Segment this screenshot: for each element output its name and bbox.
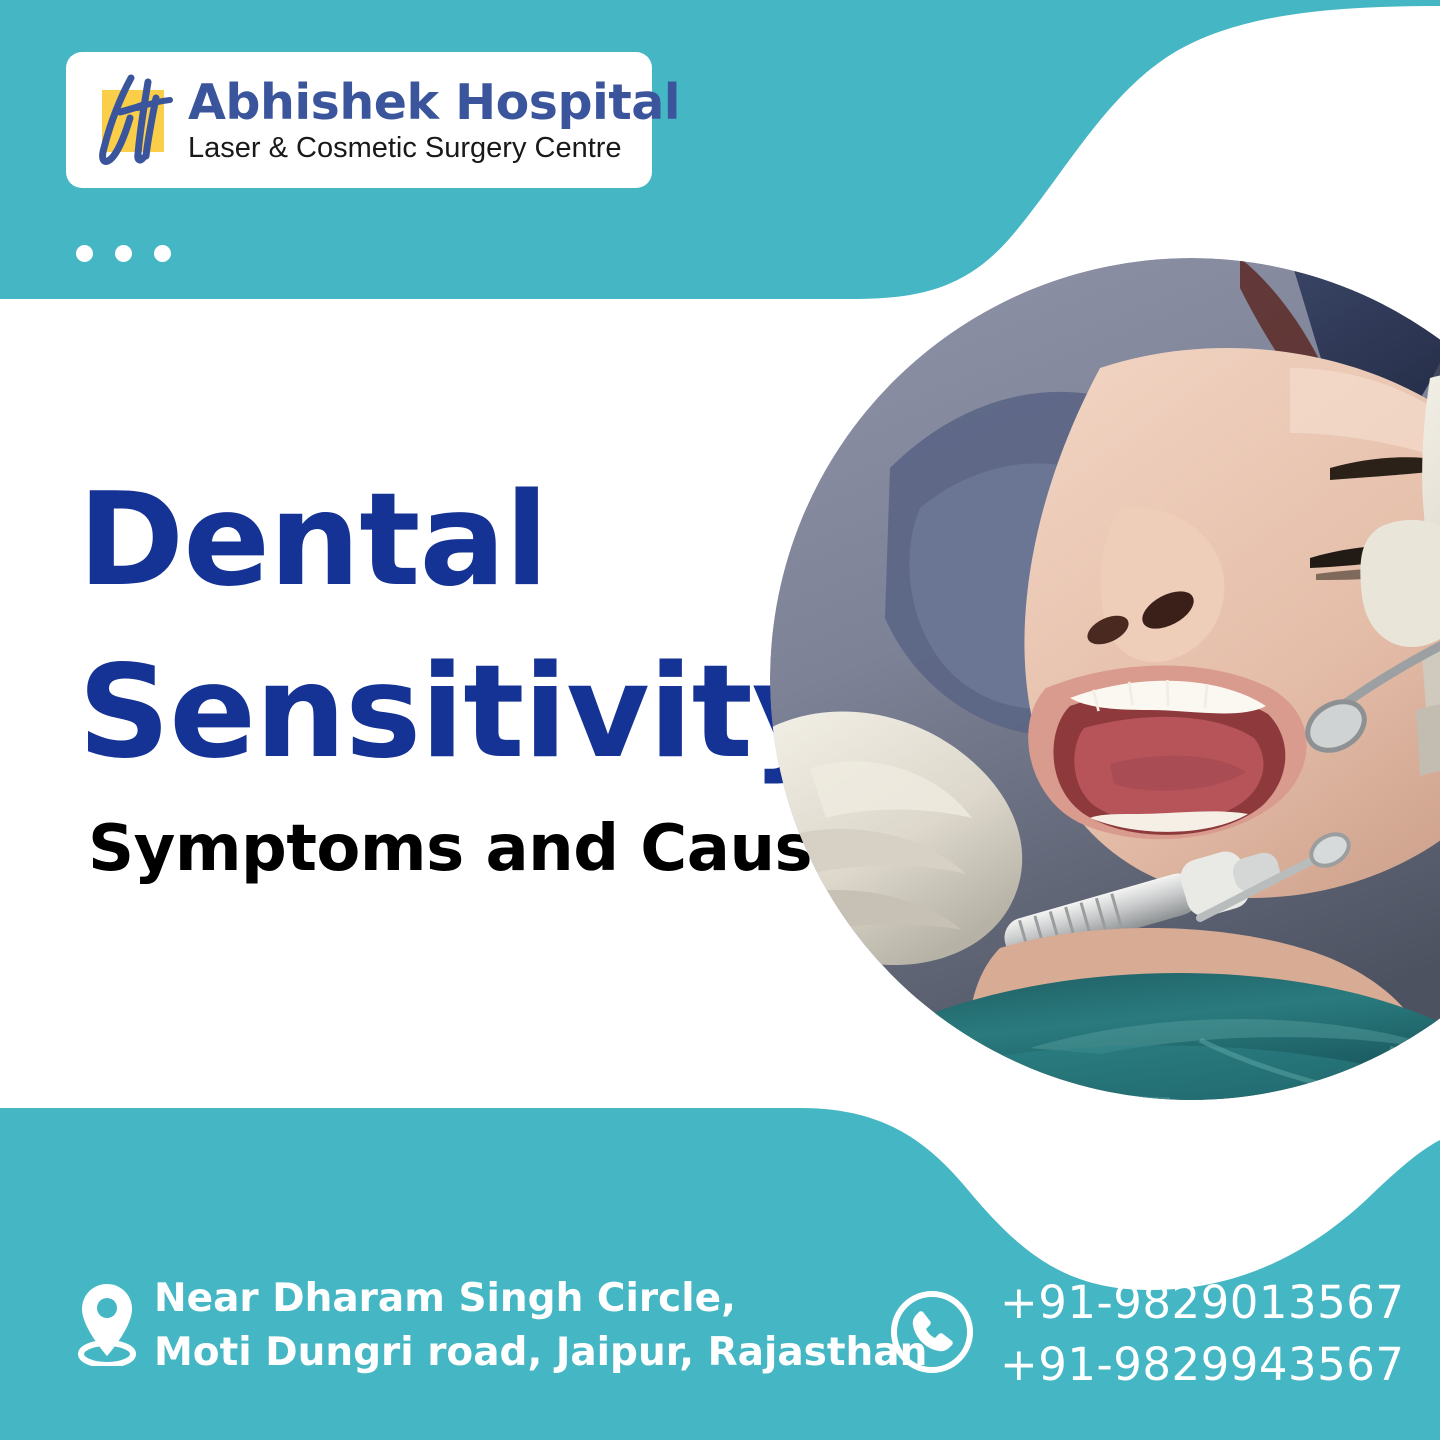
phone-number-1: +91-9829013567	[1000, 1272, 1405, 1334]
dot	[1322, 78, 1340, 96]
dot	[115, 245, 132, 262]
dot	[1322, 115, 1340, 133]
dot	[1364, 115, 1382, 133]
address-line-2: Moti Dungri road, Jaipur, Rajasthan	[154, 1326, 927, 1380]
ah-monogram-icon	[90, 72, 182, 168]
dot-grid-decoration	[1322, 78, 1382, 170]
dot	[76, 245, 93, 262]
dot-row-decoration	[76, 245, 171, 262]
poster-canvas: Abhishek Hospital Laser & Cosmetic Surge…	[0, 0, 1440, 1440]
headline-line-2: Sensitivity	[78, 627, 778, 799]
address-line-1: Near Dharam Singh Circle,	[154, 1272, 927, 1326]
footer-contact-bar: Near Dharam Singh Circle, Moti Dungri ro…	[0, 1272, 1440, 1412]
dot	[1364, 78, 1382, 96]
logo-title: Abhishek Hospital	[188, 78, 680, 127]
address-block[interactable]: Near Dharam Singh Circle, Moti Dungri ro…	[78, 1272, 927, 1380]
phone-number-2: +91-9829943567	[1000, 1334, 1405, 1396]
headline-line-1: Dental	[78, 455, 778, 627]
dot	[154, 245, 171, 262]
map-pin-icon	[78, 1280, 136, 1371]
phone-block[interactable]: +91-9829013567 +91-9829943567	[890, 1272, 1405, 1396]
page-title: Dental Sensitivity	[78, 455, 778, 798]
phone-icon	[890, 1290, 974, 1379]
logo-wordmark: Abhishek Hospital Laser & Cosmetic Surge…	[188, 78, 680, 163]
logo-subtitle: Laser & Cosmetic Surgery Centre	[188, 134, 680, 163]
dot	[1322, 152, 1340, 170]
address-lines: Near Dharam Singh Circle, Moti Dungri ro…	[154, 1272, 927, 1380]
dot	[1364, 152, 1382, 170]
dental-treatment-illustration	[770, 258, 1440, 1100]
ah-script-glyph	[90, 72, 182, 168]
phone-lines: +91-9829013567 +91-9829943567	[1000, 1272, 1405, 1396]
logo-card[interactable]: Abhishek Hospital Laser & Cosmetic Surge…	[66, 52, 652, 188]
dental-treatment-photo	[770, 258, 1440, 1100]
